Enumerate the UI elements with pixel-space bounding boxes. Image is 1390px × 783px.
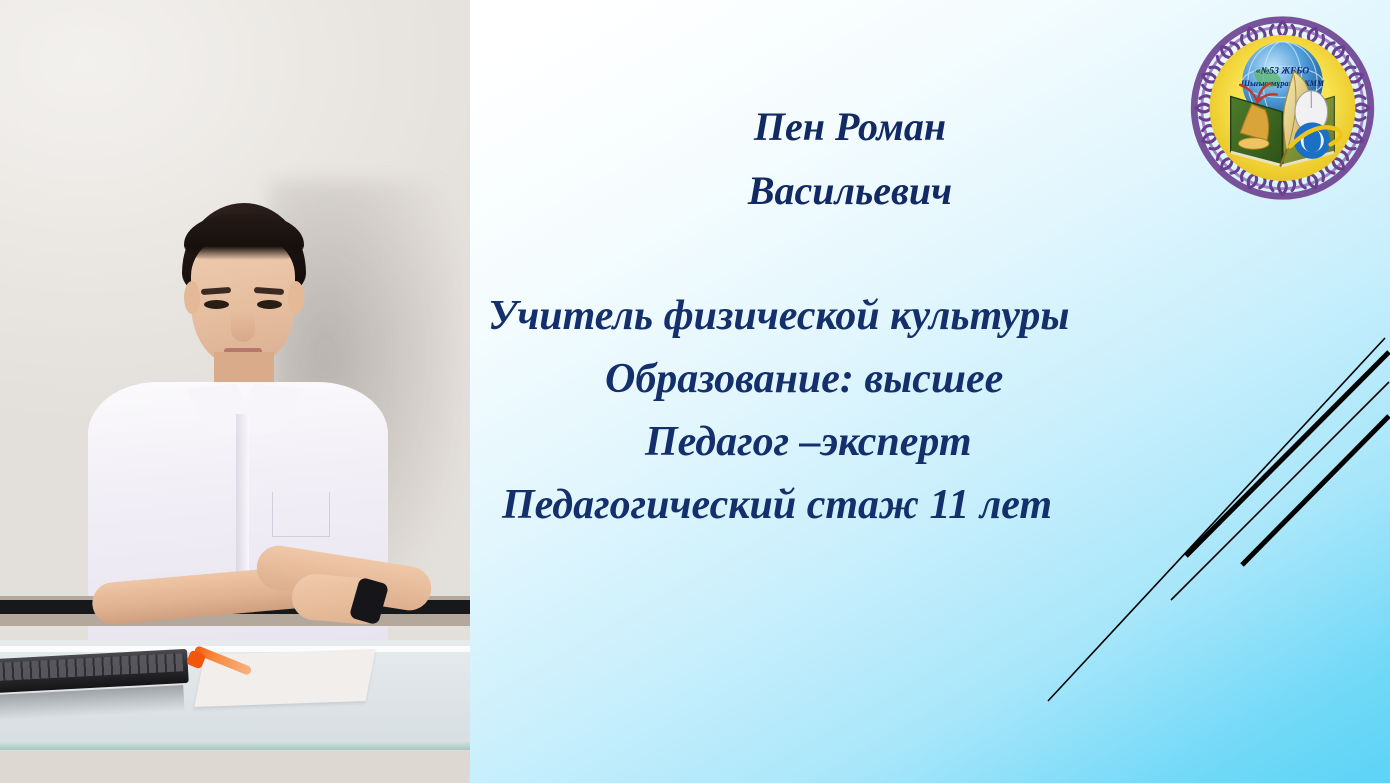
info-education: Образование: высшее bbox=[480, 348, 1390, 411]
teacher-name-line-1: Пен Роман bbox=[470, 95, 1230, 159]
info-category: Педагог –эксперт bbox=[480, 411, 1390, 474]
photo-eye-right bbox=[257, 300, 282, 309]
photo-fringe bbox=[184, 214, 304, 260]
slide-root: Пен Роман Васильевич Учитель физической … bbox=[0, 0, 1390, 783]
info-subject: Учитель физической культуры bbox=[480, 285, 1390, 348]
svg-text:Шығыс-мұрағат КММ: Шығыс-мұрағат КММ bbox=[1240, 79, 1325, 88]
photo-ear-right bbox=[288, 281, 304, 314]
teacher-name-line-2: Васильевич bbox=[470, 159, 1230, 223]
school-emblem-icon: «№53 ЖББО Шығыс-мұрағат КММ bbox=[1185, 12, 1380, 204]
photo-floor bbox=[0, 750, 470, 783]
slide-content: Пен Роман Васильевич Учитель физической … bbox=[470, 0, 1390, 783]
photo-eye-left bbox=[204, 300, 229, 309]
photo-glass-sheen bbox=[0, 646, 470, 652]
photo-glass-edge bbox=[0, 742, 470, 750]
photo-shirt-pocket bbox=[272, 492, 330, 537]
photo-nose bbox=[231, 312, 255, 342]
photo-ear-left bbox=[184, 281, 200, 314]
teacher-name-block: Пен Роман Васильевич bbox=[470, 95, 1230, 223]
teacher-photo bbox=[0, 0, 470, 783]
info-experience: Педагогический стаж 11 лет bbox=[480, 474, 1390, 537]
svg-text:«№53 ЖББО: «№53 ЖББО bbox=[1256, 65, 1309, 76]
teacher-info-block: Учитель физической культуры Образование:… bbox=[470, 285, 1390, 537]
